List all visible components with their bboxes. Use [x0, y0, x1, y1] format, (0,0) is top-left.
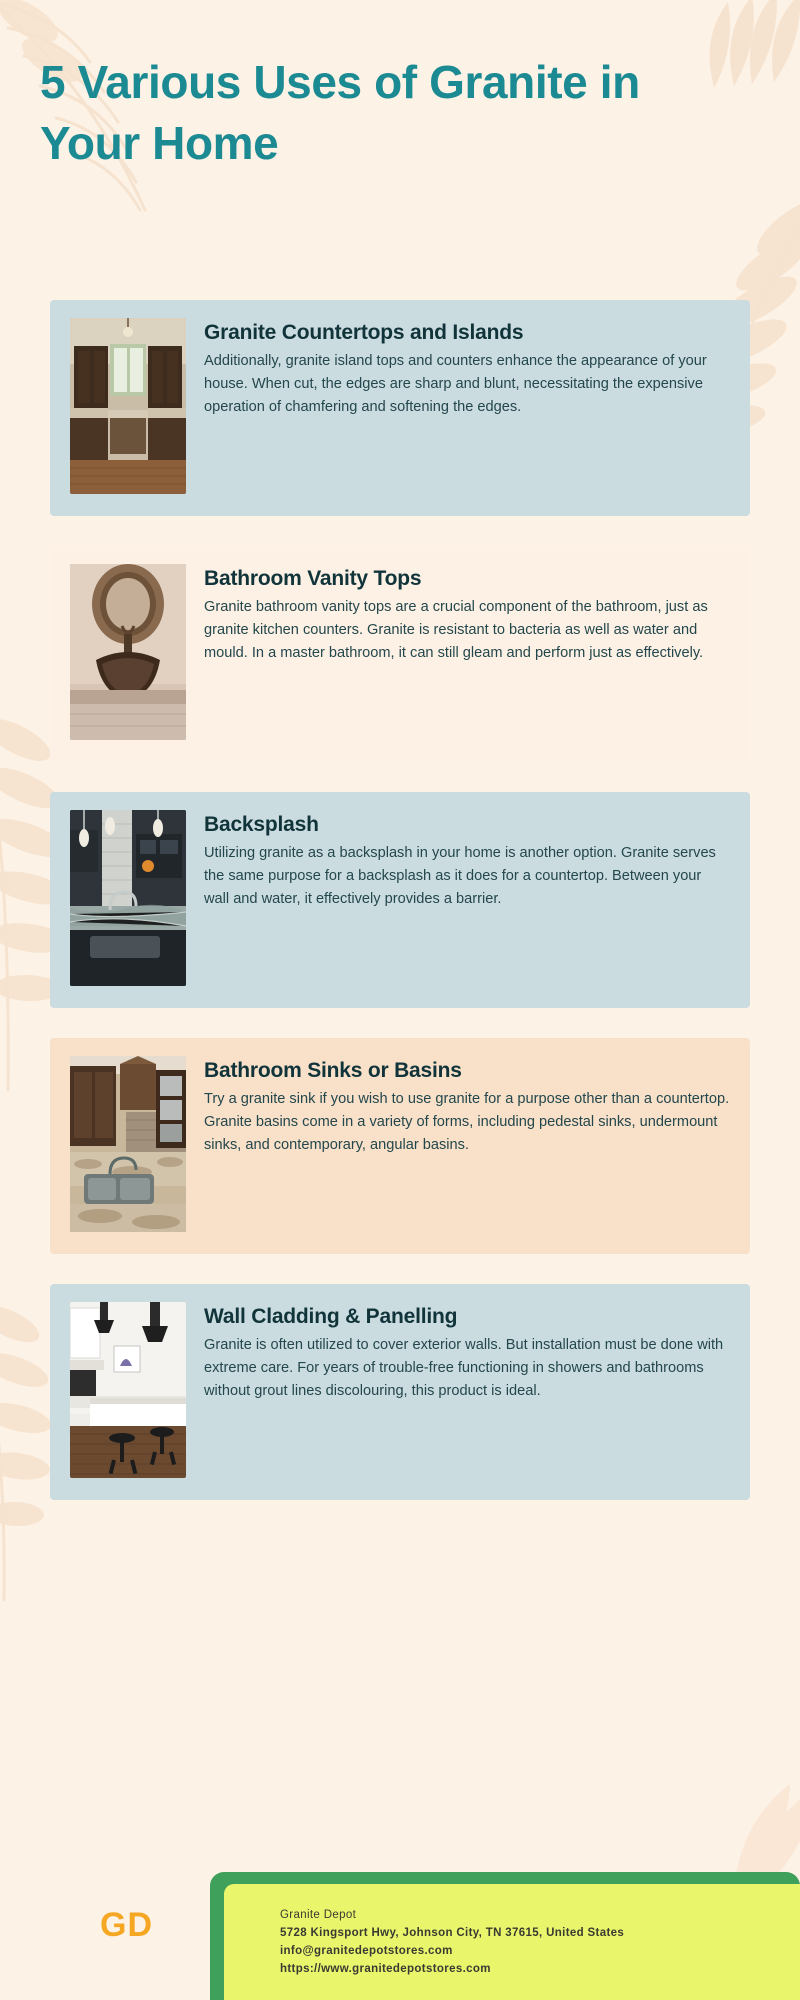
- card-backsplash[interactable]: Backsplash Utilizing granite as a backsp…: [50, 792, 750, 1008]
- card-image-1: [70, 318, 186, 494]
- header: 5 Various Uses of Granite in Your Home: [40, 52, 660, 173]
- card-body-2: Bathroom Vanity Tops Granite bathroom va…: [204, 564, 730, 665]
- card-body-1: Granite Countertops and Islands Addition…: [204, 318, 730, 419]
- card-body-3: Backsplash Utilizing granite as a backsp…: [204, 810, 730, 911]
- contact-company: Granite Depot: [280, 1906, 800, 1924]
- card-image-5: [70, 1302, 186, 1478]
- card-text-5: Granite is often utilized to cover exter…: [204, 1334, 730, 1403]
- card-text-3: Utilizing granite as a backsplash in you…: [204, 842, 730, 911]
- card-text-1: Additionally, granite island tops and co…: [204, 350, 730, 419]
- card-title-1: Granite Countertops and Islands: [204, 320, 730, 346]
- card-body-4: Bathroom Sinks or Basins Try a granite s…: [204, 1056, 730, 1157]
- contact-address: 5728 Kingsport Hwy, Johnson City, TN 376…: [280, 1924, 800, 1942]
- card-text-2: Granite bathroom vanity tops are a cruci…: [204, 596, 730, 665]
- contact-email[interactable]: info@granitedepotstores.com: [280, 1942, 800, 1960]
- card-bathroom-sinks-or-basins[interactable]: Bathroom Sinks or Basins Try a granite s…: [50, 1038, 750, 1254]
- card-title-3: Backsplash: [204, 812, 730, 838]
- card-image-4: [70, 1056, 186, 1232]
- infographic-page: 5 Various Uses of Granite in Your Home: [0, 0, 800, 2000]
- contact-website[interactable]: https://www.granitedepotstores.com: [280, 1960, 800, 1978]
- card-image-2: [70, 564, 186, 740]
- card-granite-countertops-and-islands[interactable]: Granite Countertops and Islands Addition…: [50, 300, 750, 516]
- card-title-4: Bathroom Sinks or Basins: [204, 1058, 730, 1084]
- card-title-2: Bathroom Vanity Tops: [204, 566, 730, 592]
- card-bathroom-vanity-tops[interactable]: Bathroom Vanity Tops Granite bathroom va…: [50, 546, 750, 762]
- card-text-4: Try a granite sink if you wish to use gr…: [204, 1088, 730, 1157]
- contact-card: Granite Depot 5728 Kingsport Hwy, Johnso…: [210, 1872, 800, 2000]
- cards-list: Granite Countertops and Islands Addition…: [0, 300, 800, 1530]
- card-body-5: Wall Cladding & Panelling Granite is oft…: [204, 1302, 730, 1403]
- card-title-5: Wall Cladding & Panelling: [204, 1304, 730, 1330]
- logo-gd: GD: [100, 1906, 153, 1945]
- card-wall-cladding-and-panelling[interactable]: Wall Cladding & Panelling Granite is oft…: [50, 1284, 750, 1500]
- footer: GD Granite Depot 5728 Kingsport Hwy, Joh…: [0, 1852, 800, 2000]
- contact-card-inner: Granite Depot 5728 Kingsport Hwy, Johnso…: [224, 1884, 800, 2000]
- card-image-3: [70, 810, 186, 986]
- page-title: 5 Various Uses of Granite in Your Home: [40, 52, 640, 173]
